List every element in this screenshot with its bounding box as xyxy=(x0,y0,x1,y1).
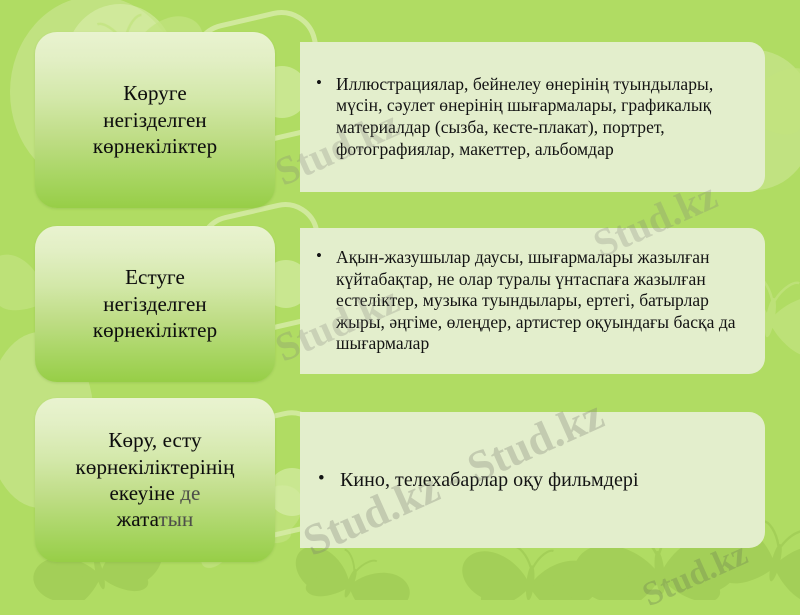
label-line: көрнекiлiктерiнiң xyxy=(76,454,235,480)
content-panel-audio: Ақын-жазушылар даусы, шығармалары жазылғ… xyxy=(300,228,765,374)
label-card-audio[interactable]: Естуге негiзделген көрнекiлiктер xyxy=(35,226,275,382)
label-card-text: Естуге негiзделген көрнекiлiктер xyxy=(93,264,217,343)
content-panel-visual: Иллюстрациялар, бейнелеу өнерiнiң туынды… xyxy=(300,42,765,192)
bullet-list: Кино, телехабарлар оқу фильмдерi xyxy=(300,468,765,493)
label-card-text: Көру, есту көрнекiлiктерiнiң екеуiне де … xyxy=(76,427,235,533)
bullet-list: Иллюстрациялар, бейнелеу өнерiнiң туынды… xyxy=(300,74,765,160)
label-line: негiзделген xyxy=(93,107,217,133)
label-line: жататын xyxy=(76,506,235,532)
label-line-part-dim: де xyxy=(180,481,200,505)
bullet-item: Ақын-жазушылар даусы, шығармалары жазылғ… xyxy=(300,247,751,355)
label-line: Естуге xyxy=(93,264,217,290)
bullet-item: Иллюстрациялар, бейнелеу өнерiнiң туынды… xyxy=(300,74,751,160)
label-line: көрнекiлiктер xyxy=(93,133,217,159)
bullet-list: Ақын-жазушылар даусы, шығармалары жазылғ… xyxy=(300,247,765,355)
content-panel-audiovisual: Кино, телехабарлар оқу фильмдерi xyxy=(300,412,765,548)
slide-canvas: Иллюстрациялар, бейнелеу өнерiнiң туынды… xyxy=(0,0,800,600)
label-line: Көру, есту xyxy=(76,427,235,453)
label-card-visual[interactable]: Көруге негiзделген көрнекiлiктер xyxy=(35,32,275,208)
label-line: негiзделген xyxy=(93,291,217,317)
label-line: көрнекiлiктер xyxy=(93,317,217,343)
label-line: екеуiне де xyxy=(76,480,235,506)
label-card-text: Көруге негiзделген көрнекiлiктер xyxy=(93,80,217,159)
label-line-part: жата xyxy=(117,507,159,531)
label-line: Көруге xyxy=(93,80,217,106)
label-card-audiovisual[interactable]: Көру, есту көрнекiлiктерiнiң екеуiне де … xyxy=(35,398,275,562)
label-line-part: екеуiне xyxy=(110,481,181,505)
bullet-item: Кино, телехабарлар оқу фильмдерi xyxy=(300,468,751,493)
label-line-part-dim: тын xyxy=(159,507,194,531)
